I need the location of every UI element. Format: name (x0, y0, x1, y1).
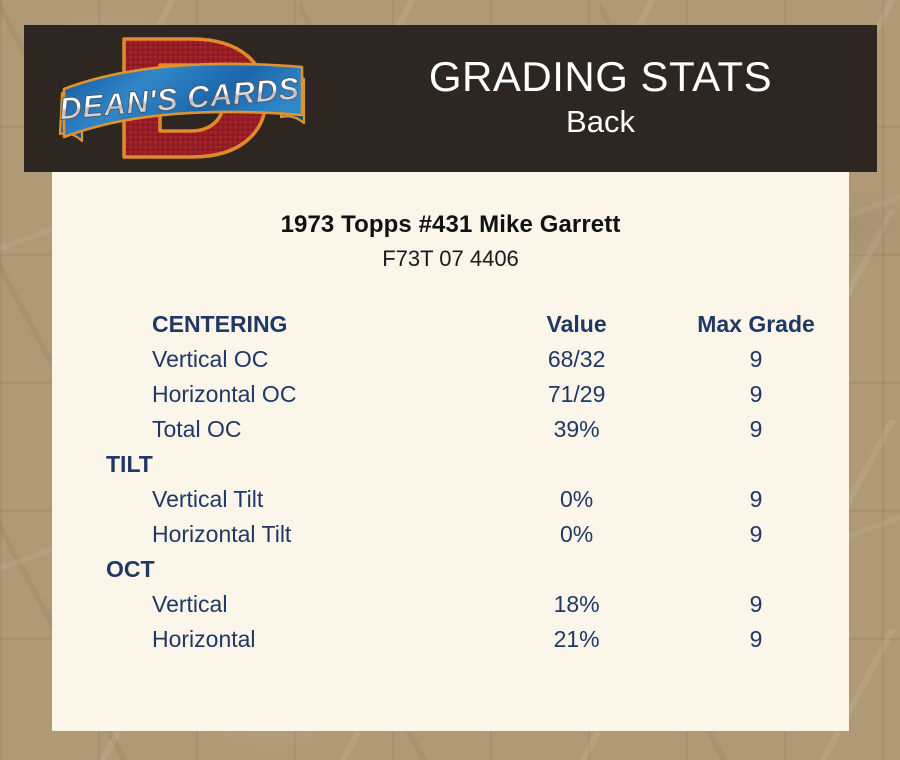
section-header-centering: CENTERING (52, 307, 490, 342)
card-title: 1973 Topps #431 Mike Garrett (52, 172, 849, 239)
header-bar: DEAN'S CARDS GRADING STATS Back (24, 25, 877, 172)
grading-stats-body: CENTERINGValueMax GradeVertical OC68/329… (52, 307, 849, 657)
section-header-oct: OCT (52, 552, 490, 587)
stat-label: Vertical (52, 587, 490, 622)
stat-value: 0% (490, 517, 663, 552)
stat-max-grade: 9 (663, 342, 849, 377)
stat-value: 39% (490, 412, 663, 447)
content-panel: 1973 Topps #431 Mike Garrett F73T 07 440… (52, 172, 849, 731)
section-value-spacer (490, 447, 663, 482)
table-row: Horizontal Tilt0%9 (52, 517, 849, 552)
stat-max-grade: 9 (663, 587, 849, 622)
stat-value: 18% (490, 587, 663, 622)
table-header-row: CENTERINGValueMax Grade (52, 307, 849, 342)
section-header-row: OCT (52, 552, 849, 587)
section-value-spacer (490, 552, 663, 587)
section-grade-spacer (663, 447, 849, 482)
section-grade-spacer (663, 552, 849, 587)
stat-max-grade: 9 (663, 482, 849, 517)
table-row: Vertical18%9 (52, 587, 849, 622)
section-header-tilt: TILT (52, 447, 490, 482)
stat-label: Horizontal Tilt (52, 517, 490, 552)
table-row: Horizontal21%9 (52, 622, 849, 657)
stat-max-grade: 9 (663, 622, 849, 657)
column-header-max-grade: Max Grade (663, 307, 849, 342)
table-row: Vertical OC68/329 (52, 342, 849, 377)
page-title: GRADING STATS (429, 55, 772, 100)
table-row: Vertical Tilt0%9 (52, 482, 849, 517)
stat-value: 68/32 (490, 342, 663, 377)
stat-max-grade: 9 (663, 517, 849, 552)
table-row: Total OC39%9 (52, 412, 849, 447)
stat-value: 21% (490, 622, 663, 657)
stat-value: 0% (490, 482, 663, 517)
page-subtitle: Back (566, 103, 635, 142)
table-row: Horizontal OC71/299 (52, 377, 849, 412)
stat-max-grade: 9 (663, 412, 849, 447)
stat-label: Horizontal OC (52, 377, 490, 412)
column-header-value: Value (490, 307, 663, 342)
stat-label: Total OC (52, 412, 490, 447)
stat-label: Horizontal (52, 622, 490, 657)
deans-cards-logo[interactable]: DEAN'S CARDS (52, 31, 314, 165)
header-title-group: GRADING STATS Back (324, 25, 877, 172)
stat-label: Vertical Tilt (52, 482, 490, 517)
stat-value: 71/29 (490, 377, 663, 412)
stat-max-grade: 9 (663, 377, 849, 412)
section-header-row: TILT (52, 447, 849, 482)
card-serial-number: F73T 07 4406 (52, 239, 849, 272)
grading-stats-table: CENTERINGValueMax GradeVertical OC68/329… (52, 307, 849, 657)
stat-label: Vertical OC (52, 342, 490, 377)
